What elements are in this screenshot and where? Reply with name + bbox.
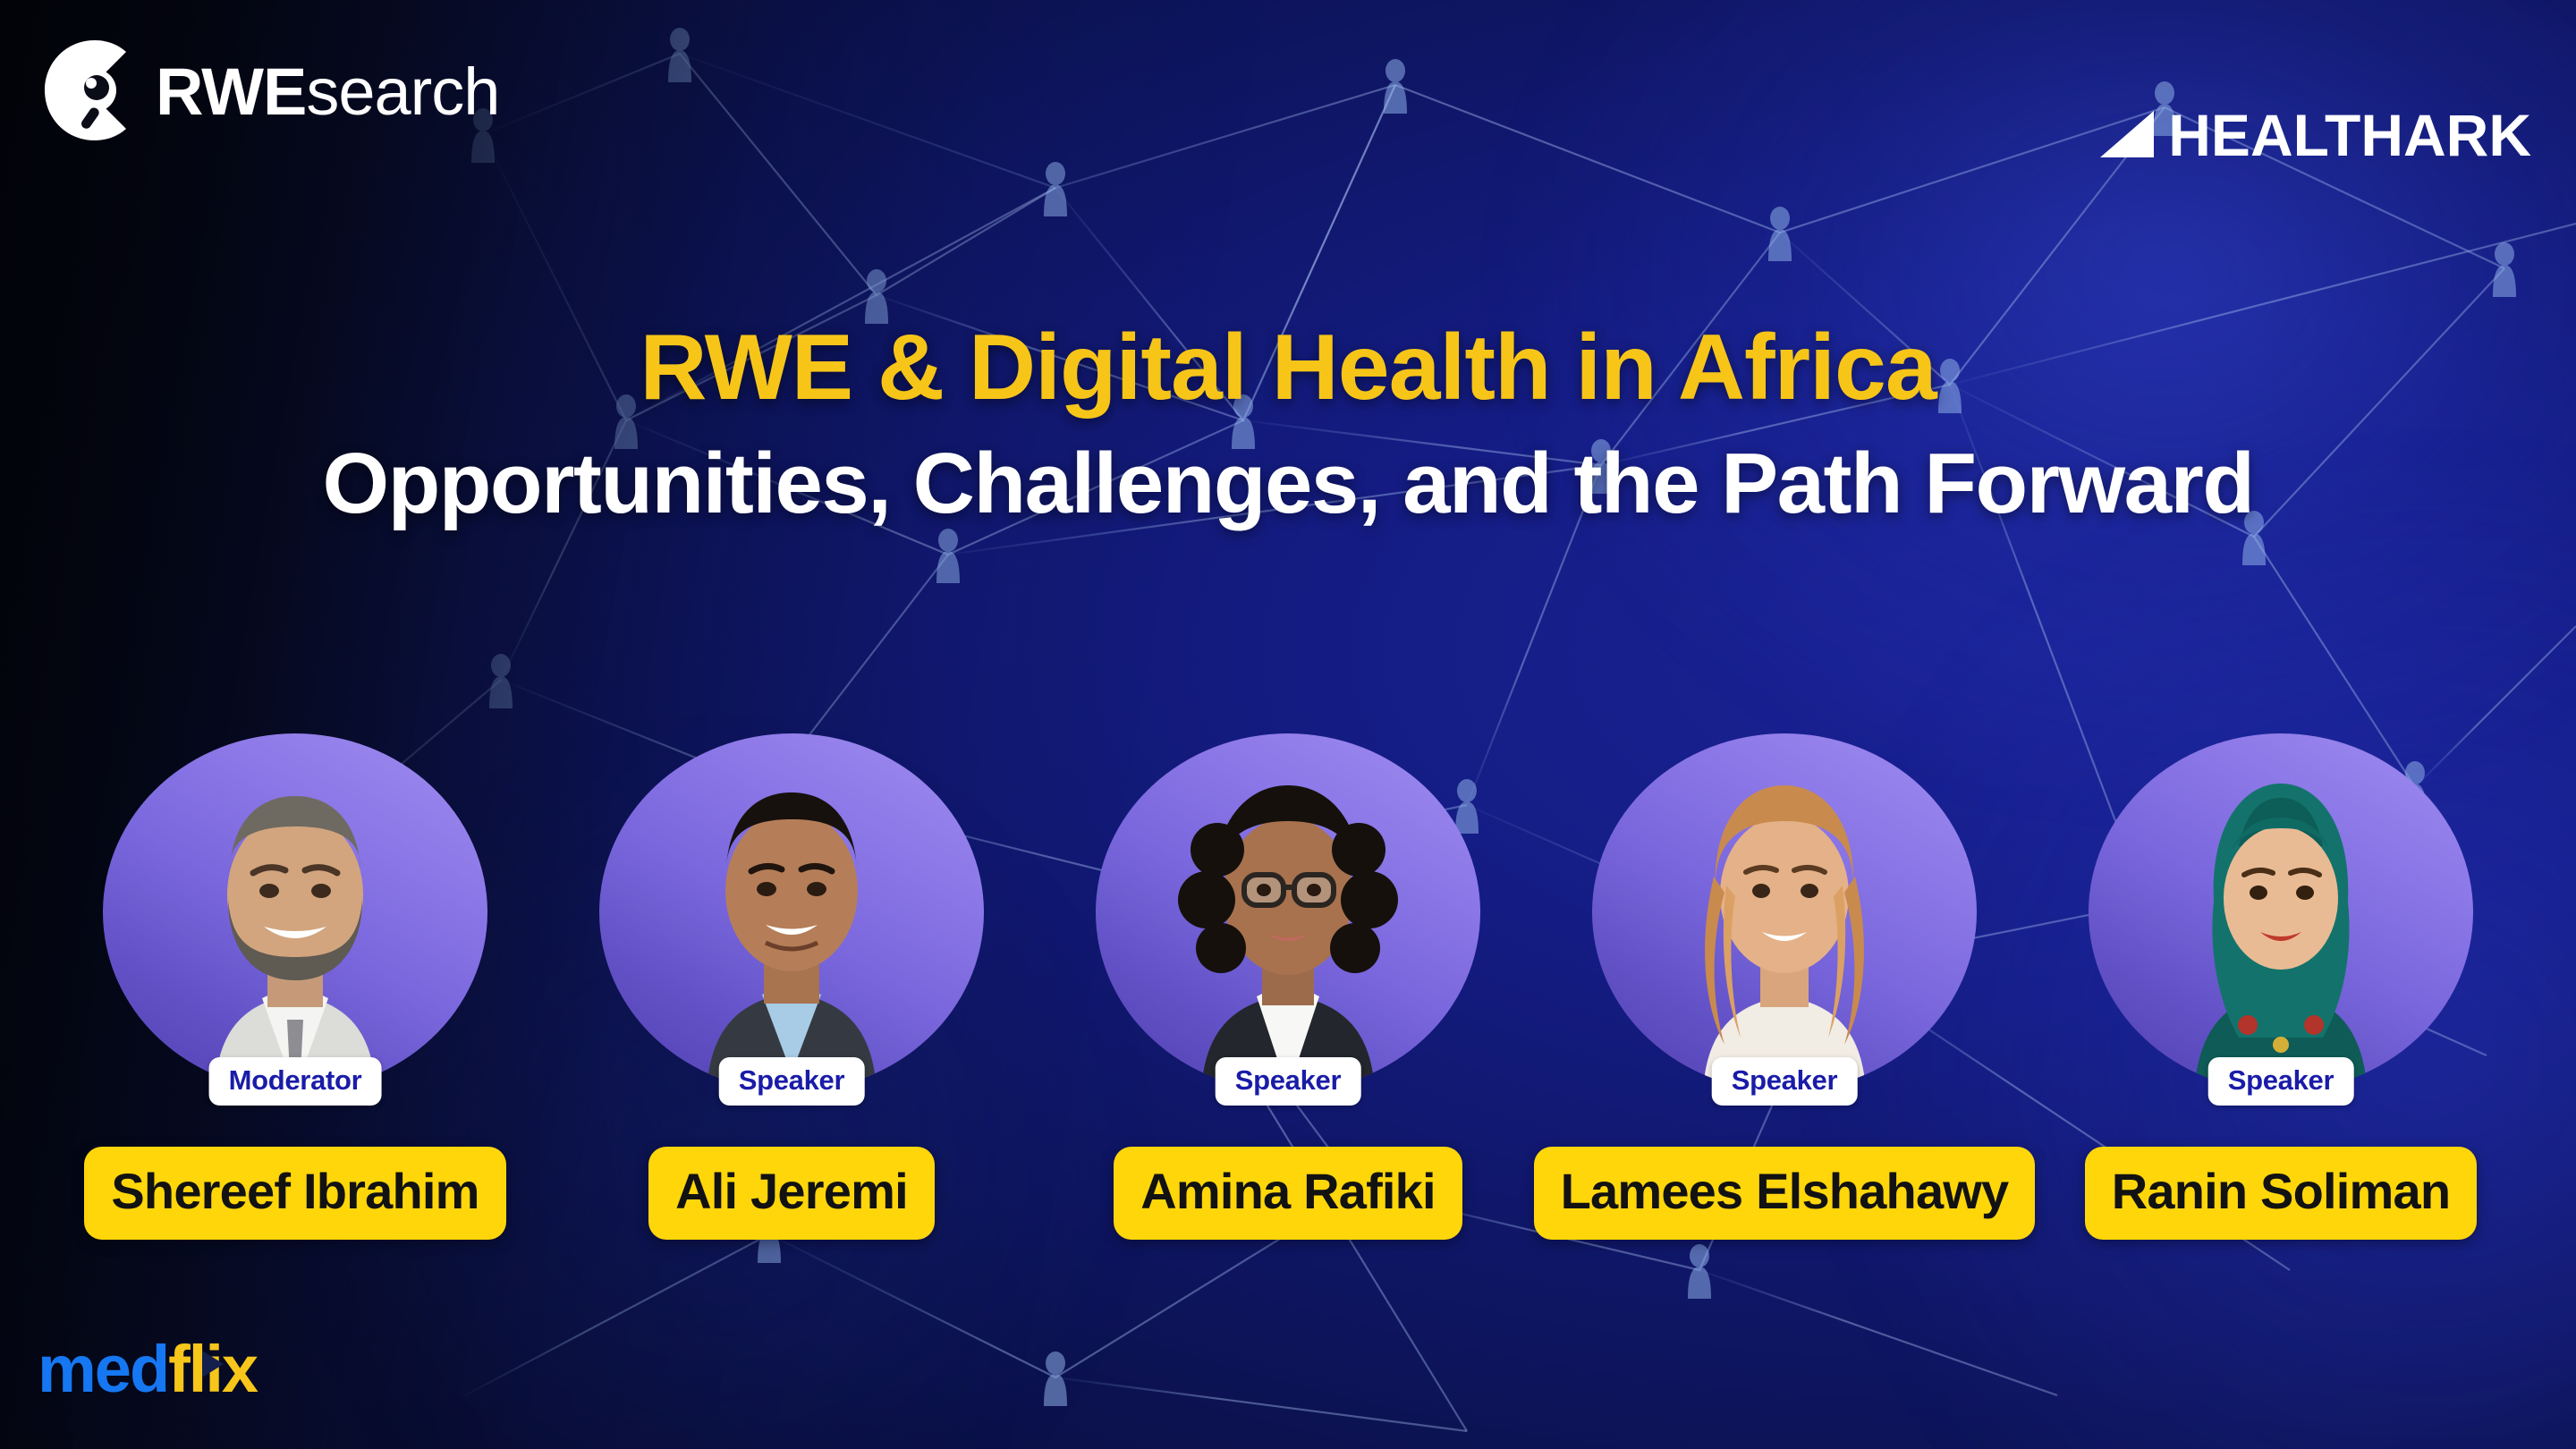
healthark-triangle-icon (2098, 111, 2156, 159)
crwesearch-light-text: search (306, 55, 499, 129)
speaker-card[interactable]: Moderator Shereef Ibrahim (98, 733, 492, 1240)
speaker-card[interactable]: Speaker Ranin Soliman (2084, 733, 2478, 1240)
speaker-card[interactable]: Speaker Amina Rafiki (1091, 733, 1485, 1240)
webinar-banner: RWEsearch HEALTHARK RWE & Digital Health… (0, 0, 2576, 1449)
avatar: Speaker (2089, 733, 2473, 1091)
title-block: RWE & Digital Health in Africa Opportuni… (0, 318, 2576, 531)
avatar-photo (599, 733, 984, 1091)
play-triangle-icon (202, 1351, 224, 1377)
magnifier-c-icon (41, 37, 148, 144)
avatar: Speaker (1096, 733, 1480, 1091)
speaker-name: Ali Jeremi (648, 1147, 935, 1240)
speakers-row: Moderator Shereef Ibrahim (98, 733, 2478, 1240)
avatar-photo (2089, 733, 2473, 1091)
avatar: Speaker (1592, 733, 1977, 1091)
crwesearch-bold-text: RWE (156, 55, 306, 129)
avatar: Moderator (103, 733, 487, 1091)
role-badge: Speaker (719, 1057, 865, 1106)
medflix-flix-text: flix (168, 1336, 257, 1402)
role-badge: Speaker (1216, 1057, 1361, 1106)
crwesearch-wordmark: RWEsearch (156, 59, 499, 125)
crwesearch-logo[interactable]: RWEsearch (41, 34, 499, 147)
healthark-wordmark: HEALTHARK (2168, 106, 2531, 165)
page-title: RWE & Digital Health in Africa (0, 318, 2576, 417)
role-badge: Moderator (209, 1057, 382, 1106)
speaker-name: Lamees Elshahawy (1534, 1147, 2036, 1240)
page-subtitle: Opportunities, Challenges, and the Path … (0, 436, 2576, 531)
speaker-card[interactable]: Speaker Lamees Elshahawy (1588, 733, 1981, 1240)
avatar-photo (1592, 733, 1977, 1091)
speaker-name: Amina Rafiki (1114, 1147, 1462, 1240)
healthark-logo[interactable]: HEALTHARK (2098, 106, 2531, 165)
speaker-name: Shereef Ibrahim (84, 1147, 505, 1240)
role-badge: Speaker (2208, 1057, 2354, 1106)
role-badge: Speaker (1712, 1057, 1858, 1106)
speaker-card[interactable]: Speaker Ali Jeremi (595, 733, 988, 1240)
speaker-name: Ranin Soliman (2085, 1147, 2478, 1240)
avatar: Speaker (599, 733, 984, 1091)
medflix-logo[interactable]: medflix (38, 1336, 257, 1402)
avatar-photo (1096, 733, 1480, 1091)
medflix-med-text: med (38, 1336, 168, 1402)
avatar-photo (103, 733, 487, 1091)
